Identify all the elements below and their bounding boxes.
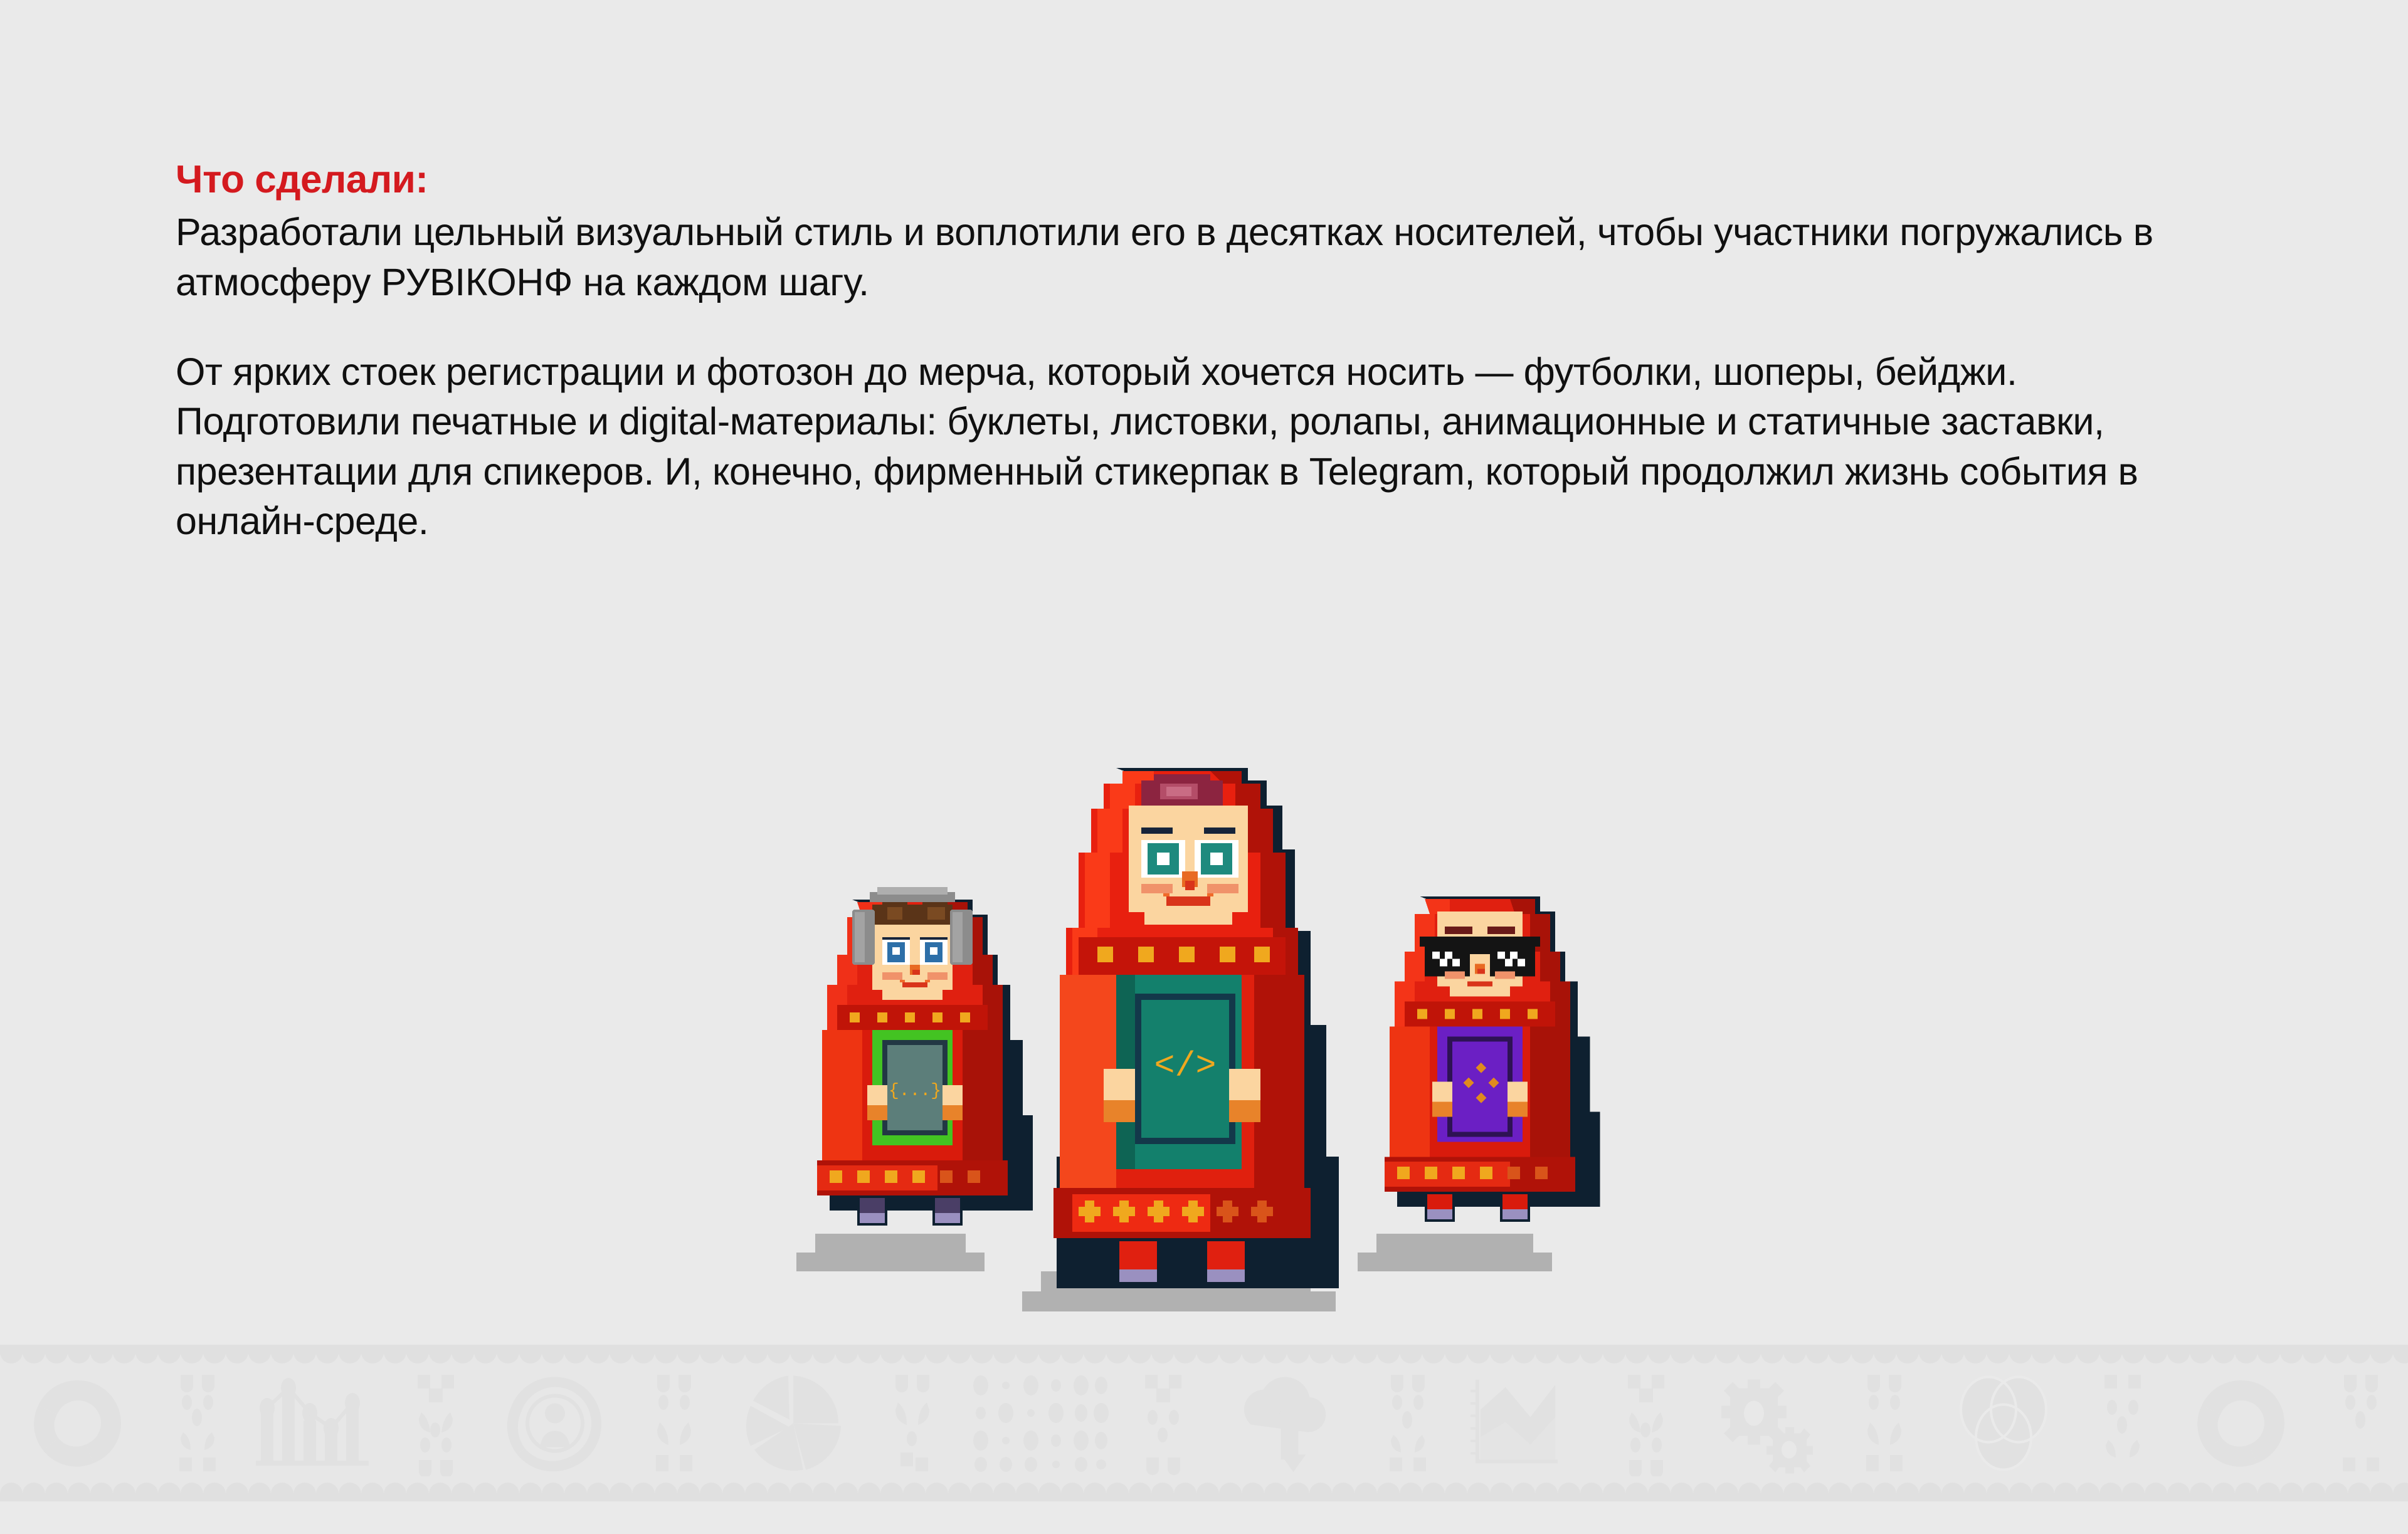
ornament-separator [1122, 1363, 1204, 1483]
scallop [519, 1483, 542, 1501]
scallop [2190, 1483, 2212, 1501]
scallop [1806, 1483, 1829, 1501]
scallop [813, 1483, 835, 1501]
scallop [2393, 1483, 2408, 1501]
scallop [2054, 1345, 2077, 1363]
scallop [632, 1345, 655, 1363]
scallop [1219, 1483, 1242, 1501]
scallop [1445, 1345, 1467, 1363]
scallop [474, 1345, 497, 1363]
scallop [135, 1345, 158, 1363]
scallop-row-top [0, 1345, 2408, 1363]
scallop [2235, 1345, 2257, 1363]
scallop [1625, 1345, 1648, 1363]
scallop [2122, 1345, 2145, 1363]
scallop [903, 1483, 926, 1501]
scallop [1400, 1345, 1422, 1363]
area-chart-icon [1449, 1363, 1605, 1483]
scallop [1061, 1483, 1084, 1501]
scallop [1038, 1345, 1061, 1363]
scallop [497, 1483, 519, 1501]
scallop [542, 1345, 564, 1363]
pixel-art-matryoshka-illustration: {...} [771, 727, 1605, 1329]
scallop [655, 1345, 677, 1363]
scallop [1671, 1483, 1693, 1501]
scallop [1513, 1345, 1535, 1363]
scallop [587, 1345, 610, 1363]
scallop [1648, 1345, 1671, 1363]
scallop [1129, 1483, 1151, 1501]
scallop [790, 1483, 813, 1501]
scallop [1377, 1483, 1400, 1501]
scallop [700, 1345, 722, 1363]
scallop [1896, 1483, 1919, 1501]
ornament-separator [1367, 1363, 1449, 1483]
scallop [90, 1345, 113, 1363]
scallop [113, 1345, 135, 1363]
dot-matrix-icon [953, 1363, 1122, 1483]
scallop [1535, 1345, 1558, 1363]
scallop [1354, 1345, 1377, 1363]
scallop [1806, 1345, 1829, 1363]
scallop [2009, 1483, 2032, 1501]
scallop [1354, 1483, 1377, 1501]
scallop [248, 1345, 271, 1363]
scallop [677, 1345, 700, 1363]
scallop [655, 1483, 677, 1501]
scallop [1874, 1345, 1896, 1363]
scallop [768, 1483, 790, 1501]
scallop [1896, 1345, 1919, 1363]
scallop [429, 1345, 451, 1363]
scallop [45, 1483, 68, 1501]
pie-chart-icon [715, 1363, 872, 1483]
scallop [1829, 1345, 1851, 1363]
scallop [564, 1345, 587, 1363]
scallop [1309, 1345, 1332, 1363]
scallop [384, 1345, 406, 1363]
scallop [1738, 1483, 1761, 1501]
scallop [948, 1345, 971, 1363]
scallop [1196, 1483, 1219, 1501]
scallop [0, 1483, 23, 1501]
ornament-separator [633, 1363, 715, 1483]
right-doll [1354, 851, 1605, 1262]
scallop [1016, 1483, 1038, 1501]
scallop [474, 1483, 497, 1501]
scallop [2303, 1345, 2325, 1363]
scallop [1242, 1345, 1264, 1363]
scallop [880, 1345, 903, 1363]
scallop [700, 1483, 722, 1501]
scallop [858, 1345, 880, 1363]
scallop [1783, 1483, 1806, 1501]
scallop [23, 1345, 45, 1363]
scallop [1851, 1345, 1874, 1363]
scallop [1919, 1483, 1941, 1501]
scallop [1941, 1345, 1964, 1363]
scallop [1603, 1345, 1625, 1363]
scallop [993, 1345, 1016, 1363]
scallop [2280, 1345, 2303, 1363]
scallop [1106, 1483, 1129, 1501]
scallop [1964, 1483, 1987, 1501]
scallop [2280, 1483, 2303, 1501]
scallop [610, 1483, 632, 1501]
scallop [339, 1483, 361, 1501]
scallop [1580, 1345, 1603, 1363]
scallop [1987, 1345, 2009, 1363]
scallop [1061, 1345, 1084, 1363]
scallop [2370, 1483, 2393, 1501]
scallop [2167, 1483, 2190, 1501]
scallop [587, 1483, 610, 1501]
scallop [1151, 1483, 1174, 1501]
ornament-band-inner [0, 1345, 2408, 1501]
scallop [158, 1345, 181, 1363]
scallop [768, 1345, 790, 1363]
scallop [2370, 1345, 2393, 1363]
scallop [293, 1345, 316, 1363]
scallop [1174, 1345, 1196, 1363]
scallop [497, 1345, 519, 1363]
left-doll: {...} [787, 849, 1038, 1263]
bar-chart-icon [238, 1363, 395, 1483]
svg-text:{...}: {...} [889, 1081, 941, 1101]
scallop [2257, 1483, 2280, 1501]
ornament-separator [872, 1363, 953, 1483]
scallop [2099, 1483, 2122, 1501]
scallop [2077, 1483, 2099, 1501]
ornament-separator [2082, 1363, 2163, 1483]
scallop [1625, 1483, 1648, 1501]
scallop [1309, 1483, 1332, 1501]
paragraph-2: От ярких стоек регистрации и фотозон до … [176, 347, 2251, 546]
scallop [813, 1345, 835, 1363]
scallop [1084, 1483, 1106, 1501]
scallop [993, 1483, 1016, 1501]
scallop [316, 1345, 339, 1363]
scallop [1693, 1483, 1716, 1501]
scallop [406, 1345, 429, 1363]
scallop [68, 1483, 90, 1501]
scallop [1174, 1483, 1196, 1501]
text-block: Что сделали: Разработали цельный визуаль… [176, 158, 2270, 546]
scallop [1422, 1483, 1445, 1501]
scallop [1264, 1345, 1287, 1363]
scallop [1264, 1483, 1287, 1501]
scallop [1783, 1345, 1806, 1363]
person-in-circle-icon [477, 1363, 633, 1483]
cloud-sync-icon [1204, 1363, 1367, 1483]
center-doll: </> [1022, 755, 1342, 1307]
ornament-separator [1605, 1363, 1687, 1483]
scallop [903, 1345, 926, 1363]
scallop [339, 1345, 361, 1363]
scallop [2009, 1345, 2032, 1363]
scallop [451, 1345, 474, 1363]
scallop [2145, 1483, 2167, 1501]
scallop [926, 1345, 948, 1363]
scallop [1151, 1345, 1174, 1363]
scallop [1919, 1345, 1941, 1363]
scallop [1129, 1345, 1151, 1363]
scallop [1671, 1345, 1693, 1363]
scallop [2235, 1483, 2257, 1501]
scallop [1603, 1483, 1625, 1501]
scallop [1377, 1345, 1400, 1363]
scallop [1987, 1483, 2009, 1501]
scallop [1535, 1483, 1558, 1501]
scallop [1874, 1483, 1896, 1501]
scallop [1513, 1483, 1535, 1501]
scallop [361, 1345, 384, 1363]
scallop [1016, 1345, 1038, 1363]
scallop [45, 1345, 68, 1363]
scallop [1467, 1483, 1490, 1501]
scallop [429, 1483, 451, 1501]
scallop [564, 1483, 587, 1501]
ornament-icon-row [0, 1363, 2408, 1483]
ornament-separator [2320, 1363, 2402, 1483]
scallop [2122, 1483, 2145, 1501]
scallop [926, 1483, 948, 1501]
paragraph-1: Разработали цельный визуальный стиль и в… [176, 208, 2251, 307]
scallop [2167, 1345, 2190, 1363]
scallop [1716, 1483, 1738, 1501]
scallop [181, 1483, 203, 1501]
scallop [1467, 1345, 1490, 1363]
scallop [722, 1483, 745, 1501]
scallop [971, 1345, 993, 1363]
scallop-row-bottom [0, 1483, 2408, 1501]
scallop [2032, 1345, 2054, 1363]
scallop [135, 1483, 158, 1501]
scallop [1106, 1345, 1129, 1363]
scallop [203, 1345, 226, 1363]
scallop [1332, 1345, 1354, 1363]
scallop [2325, 1483, 2348, 1501]
scallop [68, 1345, 90, 1363]
scallop [1716, 1345, 1738, 1363]
scallop [1196, 1345, 1219, 1363]
scallop [1219, 1345, 1242, 1363]
scallop [1558, 1483, 1580, 1501]
scallop [158, 1483, 181, 1501]
scallop [0, 1345, 23, 1363]
scallop [2212, 1345, 2235, 1363]
scallop [880, 1483, 903, 1501]
scallop [2303, 1483, 2325, 1501]
scallop [271, 1483, 293, 1501]
donut-chart-icon [0, 1363, 157, 1483]
scallop [677, 1483, 700, 1501]
scallop [248, 1483, 271, 1501]
scallop [1941, 1483, 1964, 1501]
scallop [2348, 1483, 2370, 1501]
scallop [2099, 1345, 2122, 1363]
scallop [23, 1483, 45, 1501]
scallop [1829, 1483, 1851, 1501]
scallop [2077, 1345, 2099, 1363]
scallop [745, 1483, 768, 1501]
scallop [1490, 1483, 1513, 1501]
scallop [519, 1345, 542, 1363]
scallop [1761, 1345, 1783, 1363]
scallop [384, 1483, 406, 1501]
scallop [406, 1483, 429, 1501]
scallop [226, 1345, 248, 1363]
scallop [1693, 1345, 1716, 1363]
scallop [610, 1345, 632, 1363]
scallop [858, 1483, 880, 1501]
svg-text:</>: </> [1154, 1046, 1216, 1086]
scallop [1761, 1483, 1783, 1501]
scallop [1445, 1483, 1467, 1501]
scallop [2348, 1345, 2370, 1363]
scallop [1422, 1345, 1445, 1363]
scallop [948, 1483, 971, 1501]
scallop [835, 1483, 858, 1501]
scallop [293, 1483, 316, 1501]
scallop [2145, 1345, 2167, 1363]
scallop [745, 1345, 768, 1363]
scallop [2054, 1483, 2077, 1501]
page-title: Что сделали: [176, 158, 2270, 201]
scallop [722, 1345, 745, 1363]
scallop [1580, 1483, 1603, 1501]
gears-icon [1687, 1363, 1844, 1483]
scallop [1851, 1483, 1874, 1501]
scallop [226, 1483, 248, 1501]
scallop [113, 1483, 135, 1501]
scallop [271, 1345, 293, 1363]
scallop [90, 1483, 113, 1501]
venn-diagram-icon [1925, 1363, 2082, 1483]
scallop [1287, 1483, 1309, 1501]
scallop [2393, 1345, 2408, 1363]
scallop [316, 1483, 339, 1501]
scallop [1084, 1345, 1106, 1363]
scallop [1964, 1345, 1987, 1363]
scallop [790, 1345, 813, 1363]
scallop [1038, 1483, 1061, 1501]
scallop [542, 1483, 564, 1501]
ornament-separator [395, 1363, 477, 1483]
scallop [451, 1483, 474, 1501]
scallop [1738, 1345, 1761, 1363]
scallop [1490, 1345, 1513, 1363]
scallop [361, 1483, 384, 1501]
scallop [2190, 1345, 2212, 1363]
scallop [2212, 1483, 2235, 1501]
scallop [203, 1483, 226, 1501]
scallop [1332, 1483, 1354, 1501]
scallop [1648, 1483, 1671, 1501]
scallop [1400, 1483, 1422, 1501]
scallop [1558, 1345, 1580, 1363]
scallop [835, 1345, 858, 1363]
scallop [971, 1483, 993, 1501]
scallop [1242, 1483, 1264, 1501]
ornament-separator [157, 1363, 238, 1483]
scallop [2325, 1345, 2348, 1363]
scallop [2032, 1483, 2054, 1501]
scallop [632, 1483, 655, 1501]
ornament-band [0, 1333, 2408, 1534]
scallop [181, 1345, 203, 1363]
donut-chart-icon [2163, 1363, 2320, 1483]
scallop [2257, 1345, 2280, 1363]
bar-chart-icon [2402, 1363, 2408, 1483]
ornament-separator [1844, 1363, 1925, 1483]
scallop [1287, 1345, 1309, 1363]
